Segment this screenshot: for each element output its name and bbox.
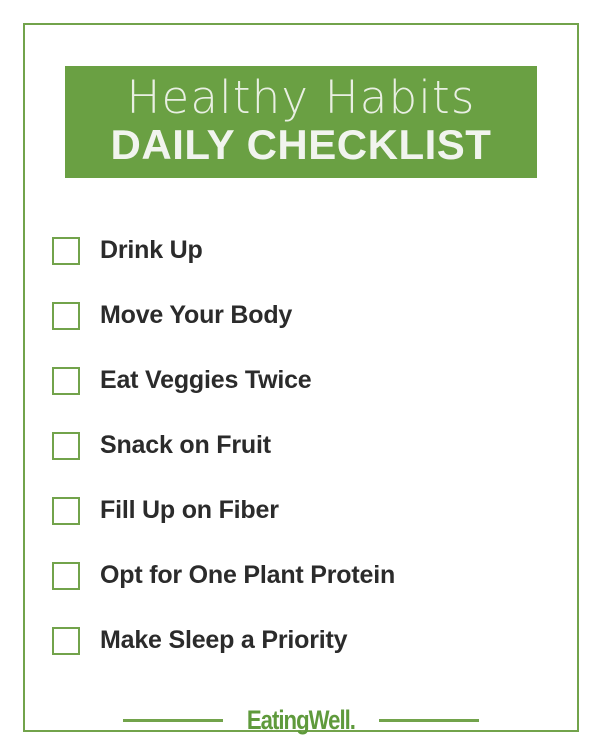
page-title: Healthy Habits — [65, 72, 537, 124]
checkbox-icon[interactable] — [52, 237, 80, 265]
divider-left — [123, 719, 223, 722]
list-item-label: Opt for One Plant Protein — [100, 561, 395, 590]
page-subtitle: DAILY CHECKLIST — [65, 120, 537, 170]
checklist: Drink Up Move Your Body Eat Veggies Twic… — [52, 218, 552, 673]
checkbox-icon[interactable] — [52, 497, 80, 525]
header-banner: Healthy Habits DAILY CHECKLIST — [65, 66, 537, 178]
checkbox-icon[interactable] — [52, 302, 80, 330]
list-item-label: Snack on Fruit — [100, 431, 271, 460]
checkbox-icon[interactable] — [52, 627, 80, 655]
list-item[interactable]: Eat Veggies Twice — [52, 348, 552, 413]
list-item-label: Drink Up — [100, 236, 203, 265]
list-item[interactable]: Fill Up on Fiber — [52, 478, 552, 543]
list-item[interactable]: Snack on Fruit — [52, 413, 552, 478]
list-item-label: Move Your Body — [100, 301, 292, 330]
divider-right — [379, 719, 479, 722]
list-item[interactable]: Move Your Body — [52, 283, 552, 348]
list-item[interactable]: Drink Up — [52, 218, 552, 283]
list-item-label: Eat Veggies Twice — [100, 366, 312, 395]
checkbox-icon[interactable] — [52, 562, 80, 590]
list-item[interactable]: Opt for One Plant Protein — [52, 543, 552, 608]
checkbox-icon[interactable] — [52, 432, 80, 460]
footer: EatingWell. — [0, 698, 602, 742]
checkbox-icon[interactable] — [52, 367, 80, 395]
list-item-label: Fill Up on Fiber — [100, 496, 279, 525]
list-item[interactable]: Make Sleep a Priority — [52, 608, 552, 673]
checklist-page: Healthy Habits DAILY CHECKLIST Drink Up … — [0, 0, 602, 753]
brand-logo: EatingWell. — [247, 705, 355, 735]
list-item-label: Make Sleep a Priority — [100, 626, 347, 655]
